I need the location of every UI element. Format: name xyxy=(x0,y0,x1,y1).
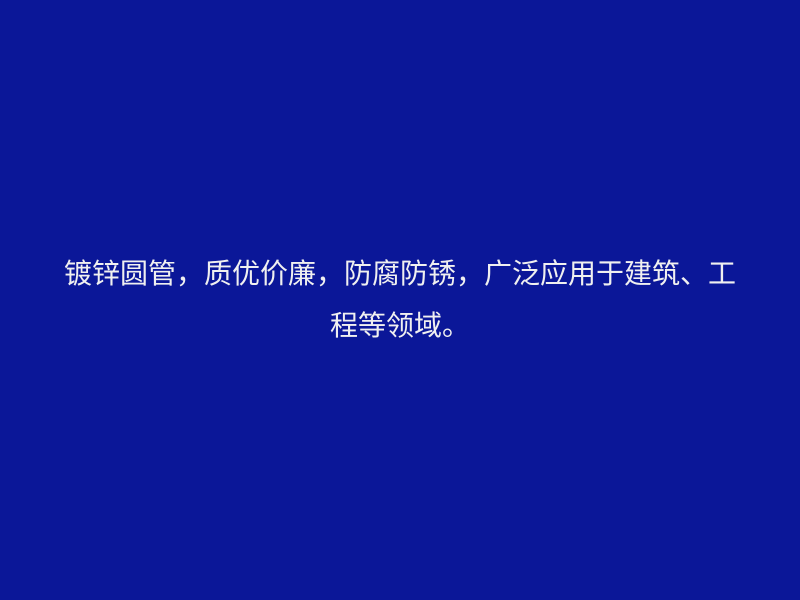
caption-block: 镀锌圆管，质优价廉，防腐防锈，广泛应用于建筑、工程等领域。 xyxy=(55,248,745,352)
caption-text: 镀锌圆管，质优价廉，防腐防锈，广泛应用于建筑、工程等领域。 xyxy=(55,248,745,352)
slide-canvas: 镀锌圆管，质优价廉，防腐防锈，广泛应用于建筑、工程等领域。 xyxy=(0,0,800,600)
